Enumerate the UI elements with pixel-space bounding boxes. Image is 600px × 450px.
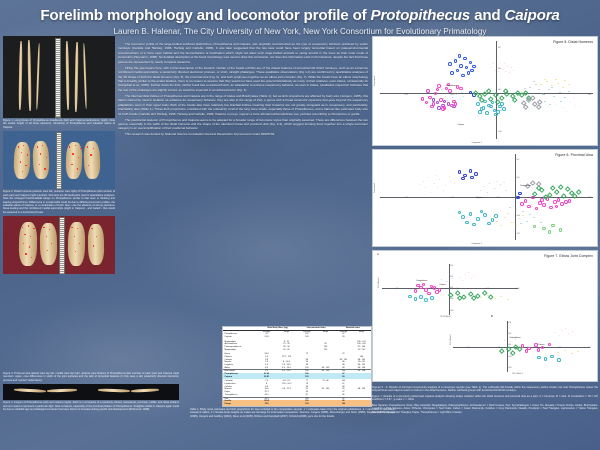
data-point	[454, 59, 458, 63]
data-point	[487, 222, 491, 226]
data-point: +	[454, 183, 455, 185]
data-point	[557, 83, 559, 84]
landmark-dot	[72, 153, 73, 154]
data-point	[557, 352, 559, 353]
poster-header: Forelimb morphology and locomotor profil…	[0, 8, 600, 36]
data-point	[554, 189, 559, 194]
y-axis-tick: -0.05	[508, 368, 511, 369]
data-point	[551, 224, 555, 228]
table-cell-value: 78.5	[258, 403, 276, 406]
data-point	[476, 217, 480, 221]
data-point: +	[505, 71, 506, 73]
data-point: +	[502, 69, 503, 71]
data-point	[499, 95, 504, 100]
data-point	[507, 213, 509, 214]
data-point	[439, 98, 443, 102]
data-point: +	[491, 67, 492, 69]
data-point	[491, 218, 495, 222]
data-point	[557, 198, 561, 202]
scale-ruler	[59, 217, 65, 274]
fossil-annotation-label: Protopithecus	[520, 185, 531, 187]
data-point	[494, 298, 496, 299]
data-point: +	[462, 280, 463, 282]
data-point: +	[419, 184, 420, 186]
data-point	[555, 205, 559, 209]
data-point	[518, 192, 522, 196]
data-point	[500, 225, 502, 226]
data-point	[436, 88, 440, 92]
y-axis-tick: 0.04	[498, 69, 501, 70]
x-axis-label: Component 1	[472, 243, 482, 245]
data-point	[499, 348, 504, 353]
figure-7-panel-b: -0.06-0.010.030.080.12-0.05-0.020.000.03…	[449, 319, 592, 376]
data-point: +	[562, 107, 563, 109]
body-paragraph-1: The locomotor profile of the large-bodie…	[118, 42, 368, 64]
data-point	[456, 69, 460, 73]
data-point	[425, 101, 429, 105]
table-cell-value: 139	[298, 403, 317, 406]
data-point	[532, 191, 537, 196]
figure-7-panel-a: -0.08-0.040.010.060.10-0.05-0.030.000.03…	[377, 261, 520, 318]
data-point	[458, 296, 463, 301]
table-1: Male Body Mass (kg)Intermembral IndexBra…	[223, 327, 371, 406]
data-point: +	[551, 110, 552, 112]
data-point: +	[575, 105, 576, 107]
data-point: ×	[487, 192, 488, 194]
fossil-annotation-label: Caipora	[458, 124, 464, 126]
data-point	[562, 87, 564, 88]
data-point	[540, 198, 544, 202]
data-point	[555, 79, 557, 80]
y-axis-label: PLS 1 Block 2	[378, 277, 380, 288]
landmark-dot	[48, 148, 49, 149]
data-point: +	[448, 176, 449, 178]
y-axis-tick: -0.03	[450, 299, 453, 300]
data-point: ×	[496, 181, 497, 183]
bone-specimen	[47, 389, 77, 393]
figure-5-chart[interactable]: Figure 5. Distal Humerus -0.10-0.050.000…	[372, 36, 598, 146]
fossil-annotation-label: Protopithecus	[446, 85, 457, 87]
landmark-dot	[93, 245, 94, 246]
y-axis-tick: -0.06	[498, 132, 501, 133]
data-point: ×	[504, 340, 505, 342]
data-point: ×	[494, 188, 495, 190]
bone-specimen	[98, 389, 130, 393]
table-1-caption: Table 1. Body mass estimates and limb pr…	[190, 408, 395, 418]
data-point	[469, 61, 473, 65]
body-paragraph-2: Filling this gap begins here, with a bri…	[118, 66, 368, 93]
landmark-dot	[28, 225, 29, 226]
bone-specimen	[83, 140, 100, 179]
data-point: +	[460, 277, 461, 279]
data-point	[577, 351, 579, 352]
data-point	[474, 172, 478, 176]
data-point	[461, 74, 465, 78]
data-point	[527, 205, 531, 209]
title-taxon-caipora: Caipora	[505, 7, 560, 24]
bone-specimen	[35, 43, 40, 110]
data-point	[421, 97, 425, 101]
author-affiliation: Lauren B. Halenar, The City University o…	[0, 27, 600, 36]
fossil-annotation-label: Caipora	[439, 284, 445, 286]
data-point: +	[494, 70, 495, 72]
data-point	[515, 209, 517, 210]
data-point	[416, 284, 420, 288]
data-point	[489, 294, 494, 299]
data-point: +	[513, 70, 514, 72]
data-point	[461, 177, 465, 181]
x-axis-tick: 0.12	[588, 348, 591, 349]
bone-specimen	[82, 43, 87, 109]
data-point	[544, 357, 548, 361]
x-axis-tick: -0.07	[450, 198, 453, 199]
data-point	[458, 54, 462, 58]
data-point	[458, 170, 462, 174]
data-point: +	[498, 71, 499, 73]
data-point: +	[548, 106, 549, 108]
landmark-dot	[91, 228, 92, 229]
data-point	[463, 57, 467, 61]
data-point	[540, 84, 542, 85]
data-point: +	[573, 98, 574, 100]
figure-6-title: Figure 6. Proximal Ulna	[555, 153, 593, 157]
x-axis-tick: 0.08	[588, 198, 591, 199]
data-point	[535, 207, 539, 211]
data-point: ×	[459, 98, 460, 100]
data-point	[568, 91, 570, 92]
landmark-dot	[43, 227, 44, 228]
data-point	[541, 346, 545, 350]
data-point: ×	[449, 276, 450, 278]
data-point: ×	[504, 182, 505, 184]
data-point: +	[430, 192, 431, 194]
x-axis-tick: -0.06	[466, 348, 469, 349]
data-point	[500, 102, 504, 106]
data-point	[564, 80, 566, 81]
figure-1-caption: Figure 1. Long bones of Protopithecus br…	[3, 119, 115, 129]
data-point	[469, 169, 473, 173]
data-point	[533, 81, 535, 82]
data-point	[483, 213, 487, 217]
data-point: ×	[456, 94, 457, 96]
data-point	[465, 221, 469, 225]
data-point	[568, 84, 570, 85]
data-point	[494, 214, 498, 218]
data-point	[472, 65, 476, 69]
data-point: +	[425, 187, 426, 189]
data-point	[424, 298, 428, 302]
data-point	[426, 89, 430, 93]
data-point: +	[511, 67, 512, 69]
data-point	[525, 349, 529, 353]
data-point	[520, 202, 524, 206]
bone-specimen	[65, 41, 69, 110]
data-point: +	[568, 333, 569, 335]
scale-ruler	[55, 38, 61, 118]
data-point	[534, 343, 538, 347]
data-point	[470, 69, 474, 73]
figure-4-caption: Figure 4. Fingers of Protopithecus (left…	[3, 401, 179, 411]
data-point	[408, 295, 412, 299]
landmark-dot	[33, 228, 34, 229]
data-point: +	[437, 187, 438, 189]
data-point	[568, 199, 572, 203]
data-point	[524, 199, 528, 203]
data-point	[544, 101, 546, 102]
y-axis-tick: 0.05	[450, 266, 453, 267]
data-point: ×	[441, 89, 442, 91]
data-point: ×	[452, 278, 453, 280]
data-point	[496, 221, 498, 222]
data-point	[483, 100, 487, 104]
x-axis-tick: 0.08	[558, 348, 561, 349]
data-point	[500, 296, 502, 297]
table-cell-taxon: Pongo	[223, 403, 258, 406]
landmark-dot	[71, 227, 72, 228]
bone-specimen	[74, 42, 78, 112]
data-point: +	[572, 331, 573, 333]
y-axis-tick: 0.03	[508, 334, 511, 335]
y-axis-tick: 0.01	[498, 90, 501, 91]
data-point	[467, 71, 471, 75]
x-axis-tick: 0.05	[542, 95, 545, 96]
data-point	[502, 107, 506, 111]
data-point: +	[570, 102, 571, 104]
data-point: ×	[480, 190, 481, 192]
figure-7-panel-a-label: A	[377, 253, 379, 256]
data-point: +	[443, 190, 444, 192]
landmark-dot	[27, 154, 28, 155]
landmark-dot	[90, 154, 91, 155]
y-axis-tick: 0.04	[516, 178, 519, 179]
data-point	[485, 111, 489, 115]
data-point	[564, 97, 566, 98]
chart-legend: Blue Squares: Protopithecus, Red+: Blue …	[372, 404, 598, 414]
data-point	[433, 286, 437, 290]
data-point	[533, 225, 537, 229]
data-point	[478, 110, 482, 114]
data-point: ×	[454, 93, 455, 95]
bone-specimen	[88, 224, 104, 265]
data-point	[524, 88, 526, 89]
data-point	[461, 215, 465, 219]
data-point: ×	[445, 96, 446, 98]
y-axis-tick: -0.02	[508, 357, 511, 358]
data-point: +	[561, 330, 562, 332]
data-point: +	[434, 183, 435, 185]
landmark-dot	[29, 148, 30, 149]
data-point: +	[565, 328, 566, 330]
data-point	[430, 296, 434, 300]
data-point	[571, 353, 573, 354]
title-taxon-protopithecus: Protopithecus	[371, 7, 471, 24]
data-point	[522, 211, 524, 212]
bone-specimen	[18, 41, 22, 110]
data-point	[476, 102, 480, 106]
data-point: ×	[463, 96, 464, 98]
data-point	[548, 89, 550, 90]
data-point: +	[439, 179, 440, 181]
fossil-annotation-label: Protopithecus	[416, 280, 427, 282]
fossil-annotation-label: Protopithecus	[510, 337, 521, 339]
data-point	[522, 215, 524, 216]
data-point	[520, 223, 522, 224]
figure-7-title: Figure 7. Elbow Joint Complex	[544, 254, 593, 258]
data-point	[529, 87, 531, 88]
left-lower-captions: Figure 3. Proximal ulna (lateral view to…	[3, 372, 179, 412]
data-point: ×	[500, 184, 501, 186]
data-point	[471, 296, 476, 301]
figures-5-6-caption: Figures 5 - 6. Results of principal comp…	[372, 386, 598, 393]
landmark-dot	[20, 161, 21, 162]
body-paragraph-3: The intermembral indices of Protopithecu…	[118, 94, 368, 116]
figure-7-chart[interactable]: Figure 7. Elbow Joint Complex A B -0.08-…	[372, 250, 598, 382]
data-point	[559, 228, 563, 232]
x-axis-tick: 0.10	[588, 95, 591, 96]
data-point	[448, 89, 452, 93]
data-point	[443, 106, 447, 110]
data-point: ×	[441, 279, 442, 281]
data-point	[560, 101, 562, 102]
figure-4-image	[3, 384, 179, 400]
bone-specimen	[14, 141, 31, 179]
x-axis-tick: -0.12	[404, 198, 407, 199]
data-point: +	[468, 272, 469, 274]
table-cell-value	[352, 403, 371, 406]
data-point	[533, 217, 535, 218]
data-point: ×	[483, 186, 484, 188]
y-axis-tick: -0.04	[516, 216, 519, 217]
figure-6-chart[interactable]: Figure 6. Proximal Ulna -0.12-0.07-0.020…	[372, 149, 598, 247]
landmark-dot	[24, 234, 25, 235]
data-point: +	[493, 63, 494, 65]
data-point: +	[507, 66, 508, 68]
data-point: ×	[510, 341, 511, 343]
data-point: +	[423, 181, 424, 183]
bone-specimen	[131, 388, 159, 392]
fossil-annotation-label: Caipora	[538, 344, 544, 346]
data-point	[515, 225, 517, 226]
data-point	[438, 288, 442, 292]
data-point	[548, 230, 552, 234]
x-axis-tick: -0.10	[404, 95, 407, 96]
data-point	[458, 211, 462, 215]
figure-5-title: Figure 5. Distal Humerus	[553, 40, 593, 44]
bone-specimen	[13, 389, 45, 394]
data-point: +	[470, 278, 471, 280]
fossil-annotation-label: Caipora	[476, 197, 482, 199]
data-point	[549, 104, 551, 105]
data-point	[559, 92, 561, 93]
x-axis-tick: -0.08	[395, 289, 398, 290]
data-point	[523, 104, 528, 109]
y-axis-tick: -0.05	[450, 311, 453, 312]
data-point	[480, 297, 482, 298]
data-point	[550, 355, 554, 359]
data-point	[511, 222, 513, 223]
data-point: +	[558, 335, 559, 337]
data-point	[419, 295, 423, 299]
figure-3-caption: Figure 3. Proximal ulna (lateral view to…	[3, 372, 179, 382]
page-title: Forelimb morphology and locomotor profil…	[0, 8, 600, 24]
data-point	[538, 89, 540, 90]
data-point	[462, 294, 467, 299]
y-axis-tick: 0.00	[450, 288, 453, 289]
data-point: +	[579, 106, 580, 108]
data-point	[494, 113, 498, 117]
table-1-container: Male Body Mass (kg)Intermembral IndexBra…	[222, 326, 372, 407]
data-point: ×	[489, 183, 490, 185]
data-point	[443, 100, 447, 104]
data-point	[414, 289, 418, 293]
x-axis	[380, 197, 593, 198]
x-axis-tick: 0.10	[517, 289, 520, 290]
data-point	[564, 350, 566, 351]
y-axis-label: PLS 1 Block 2	[450, 334, 452, 345]
data-point: +	[428, 177, 429, 179]
body-paragraph-4: The postcranial skeleton of Protopithecu…	[118, 118, 368, 131]
bone-specimen	[33, 140, 50, 179]
data-point	[546, 81, 548, 82]
data-point	[536, 104, 541, 109]
data-point	[450, 71, 454, 75]
data-point	[422, 283, 426, 287]
landmark-dot	[25, 253, 26, 254]
y-axis-tick: 0.07	[498, 48, 501, 49]
data-point: ×	[452, 97, 453, 99]
data-point	[472, 223, 476, 227]
figure-2-image	[3, 131, 115, 189]
main-text-column: The locomotor profile of the large-bodie…	[118, 42, 368, 138]
data-point	[542, 203, 546, 207]
x-axis-tick: 0.06	[486, 289, 489, 290]
landmark-dot	[44, 168, 45, 169]
x-axis-tick: -0.02	[496, 198, 499, 199]
landmark-dot	[46, 157, 47, 158]
data-point	[414, 297, 418, 301]
data-point	[507, 299, 509, 300]
data-point	[428, 96, 432, 100]
data-point: +	[554, 332, 555, 334]
y-axis-tick: 0.07	[516, 160, 519, 161]
data-point	[530, 180, 535, 185]
data-point: +	[445, 185, 446, 187]
data-point	[542, 227, 546, 231]
scale-ruler	[56, 132, 62, 189]
title-conjunction: and	[470, 7, 504, 24]
data-point: +	[504, 63, 505, 65]
data-point	[465, 66, 469, 70]
data-point	[437, 84, 441, 88]
right-chart-column: Figure 5. Distal Humerus -0.10-0.050.000…	[372, 36, 598, 382]
data-point	[459, 87, 463, 91]
data-point	[535, 84, 537, 85]
data-point	[434, 92, 438, 96]
x-axis-label: Component 1	[472, 142, 482, 144]
data-point	[427, 292, 431, 296]
figure-1-image	[3, 36, 115, 118]
data-point: +	[500, 62, 501, 64]
data-point	[537, 356, 541, 360]
data-point	[491, 101, 495, 105]
landmark-dot	[93, 148, 94, 149]
data-point	[537, 348, 541, 352]
figure-7-caption: Figure 7. Results of a two-block partial…	[372, 395, 598, 402]
data-point	[454, 102, 458, 106]
data-point	[551, 87, 553, 88]
landmark-dot	[18, 146, 19, 147]
data-point	[553, 96, 555, 97]
